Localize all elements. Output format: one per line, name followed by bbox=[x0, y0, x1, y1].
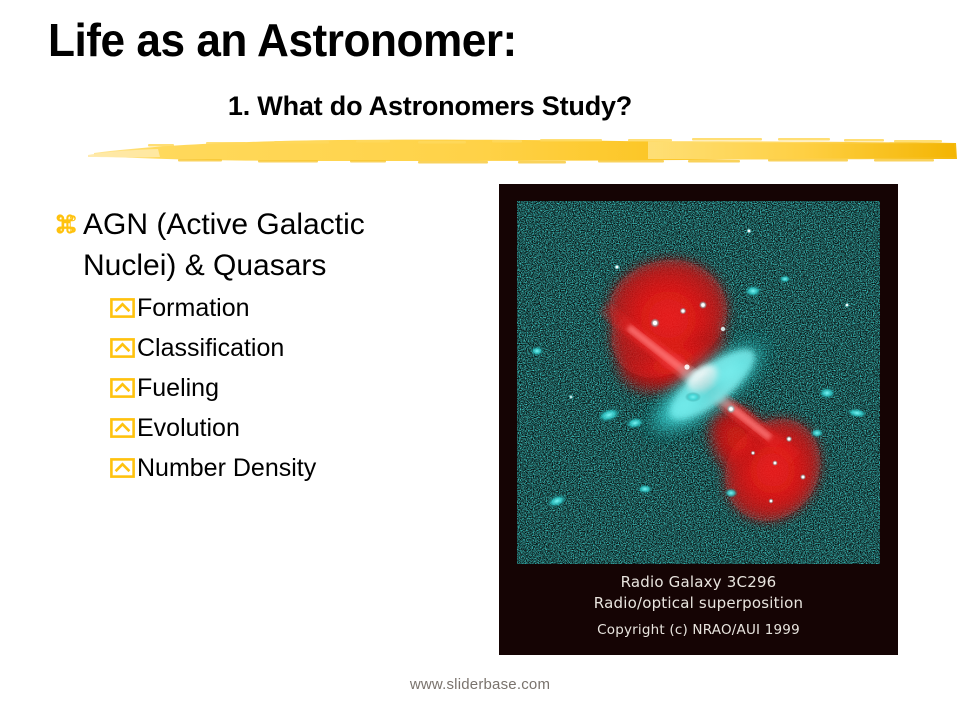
bullet-list: AGN (Active Galactic Nuclei) & Quasars F… bbox=[52, 204, 482, 486]
footer-watermark: www.sliderbase.com bbox=[0, 676, 960, 693]
box-up-arrow-icon bbox=[110, 298, 135, 318]
list-item-level2-label: Fueling bbox=[137, 370, 219, 406]
list-item-level2: Formation bbox=[110, 290, 482, 326]
box-up-arrow-icon bbox=[110, 378, 135, 398]
list-item-level2-label: Formation bbox=[137, 290, 250, 326]
box-up-arrow-icon bbox=[110, 338, 135, 358]
figure-caption: Radio Galaxy 3C296 Radio/optical superpo… bbox=[499, 572, 898, 614]
list-item-level2: Number Density bbox=[110, 450, 482, 486]
list-item-level2: Classification bbox=[110, 330, 482, 366]
box-up-arrow-icon bbox=[110, 458, 135, 478]
list-item-level2-label: Evolution bbox=[137, 410, 240, 446]
list-item-level1: AGN (Active Galactic Nuclei) & Quasars bbox=[52, 204, 482, 286]
brush-stroke-divider bbox=[88, 128, 960, 172]
radio-galaxy-image bbox=[517, 201, 880, 564]
box-up-arrow-icon bbox=[110, 418, 135, 438]
list-item-level2: Evolution bbox=[110, 410, 482, 446]
list-item-level1-label: AGN (Active Galactic Nuclei) & Quasars bbox=[78, 204, 428, 286]
list-item-level2-label: Classification bbox=[137, 330, 284, 366]
figure-caption-line1: Radio Galaxy 3C296 bbox=[499, 572, 898, 593]
brush-stroke-icon bbox=[88, 128, 960, 172]
page-subtitle: 1. What do Astronomers Study? bbox=[0, 90, 860, 122]
figure-caption-line2: Radio/optical superposition bbox=[499, 593, 898, 614]
figure-copyright: Copyright (c) NRAO/AUI 1999 bbox=[499, 622, 898, 638]
astronomy-figure: Radio Galaxy 3C296 Radio/optical superpo… bbox=[499, 184, 898, 655]
list-item-level2: Fueling bbox=[110, 370, 482, 406]
command-glyph-icon bbox=[52, 211, 78, 241]
page-title: Life as an Astronomer: bbox=[48, 14, 797, 66]
list-item-level2-label: Number Density bbox=[137, 450, 316, 486]
